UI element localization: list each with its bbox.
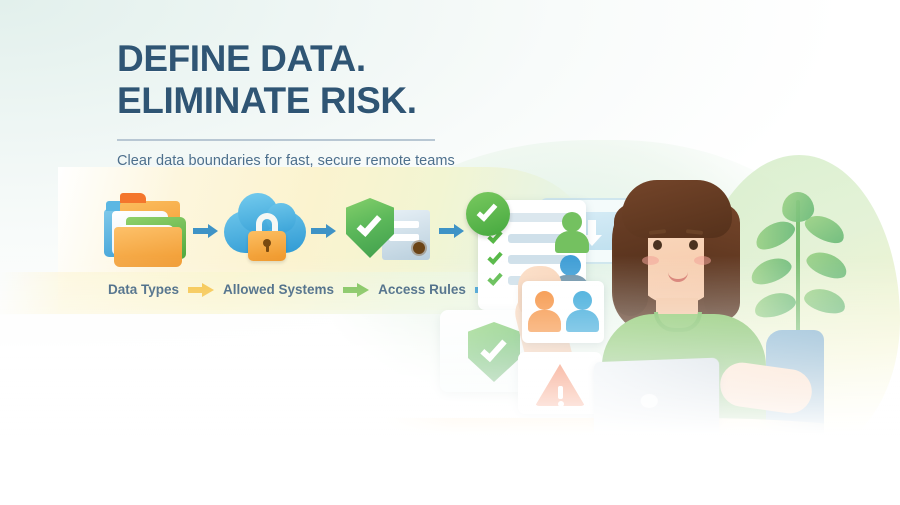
- poster-canvas: DEFINE DATA. ELIMINATE RISK. Clear data …: [0, 0, 900, 505]
- check-circle-icon: [466, 192, 510, 236]
- background-bottom-fade: [0, 255, 900, 505]
- download-arrow-icon: [588, 220, 596, 236]
